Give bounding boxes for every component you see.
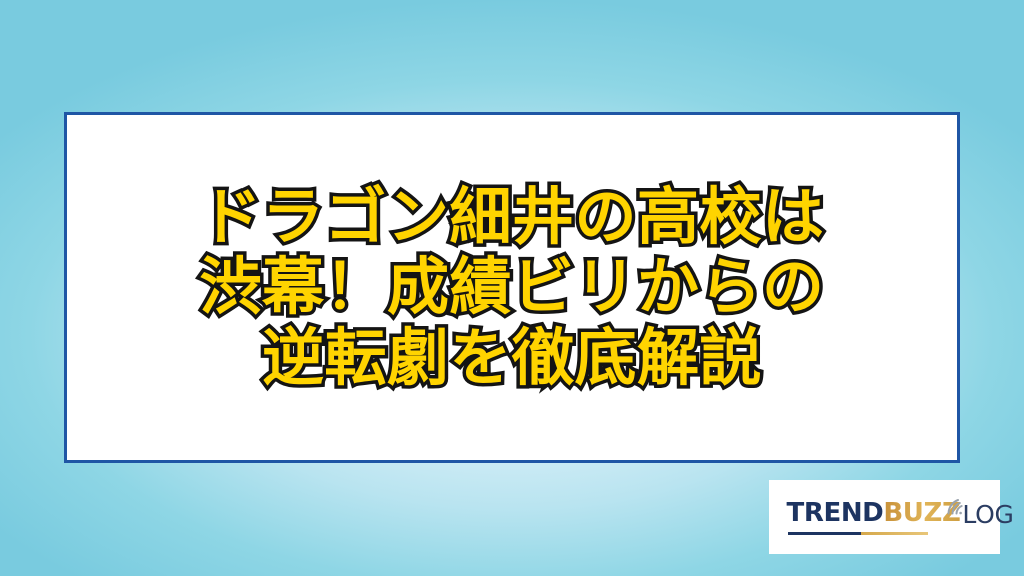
brand-word-trend: TREND: [787, 500, 884, 526]
headline-line-2: 渋幕！成績ビリからの: [67, 252, 957, 322]
thumbnail-canvas: ドラゴン細井の高校は 渋幕！成績ビリからの 逆転劇を徹底解説 TREND BUZ…: [0, 0, 1024, 576]
brand-logo-badge: TREND BUZZ LOG: [769, 480, 1000, 554]
brand-wordmark: TREND BUZZ LOG: [787, 500, 1014, 526]
brand-underline-rule: [788, 532, 928, 535]
headline-text-block: ドラゴン細井の高校は 渋幕！成績ビリからの 逆転劇を徹底解説: [67, 182, 957, 392]
wifi-signal-icon: [944, 492, 970, 516]
headline-line-3: 逆転劇を徹底解説: [67, 323, 957, 393]
brand-word-log: LOG: [962, 502, 1013, 527]
headline-line-1: ドラゴン細井の高校は: [67, 182, 957, 252]
brand-logo-inner: TREND BUZZ LOG: [787, 492, 983, 542]
headline-card: ドラゴン細井の高校は 渋幕！成績ビリからの 逆転劇を徹底解説: [64, 112, 960, 463]
